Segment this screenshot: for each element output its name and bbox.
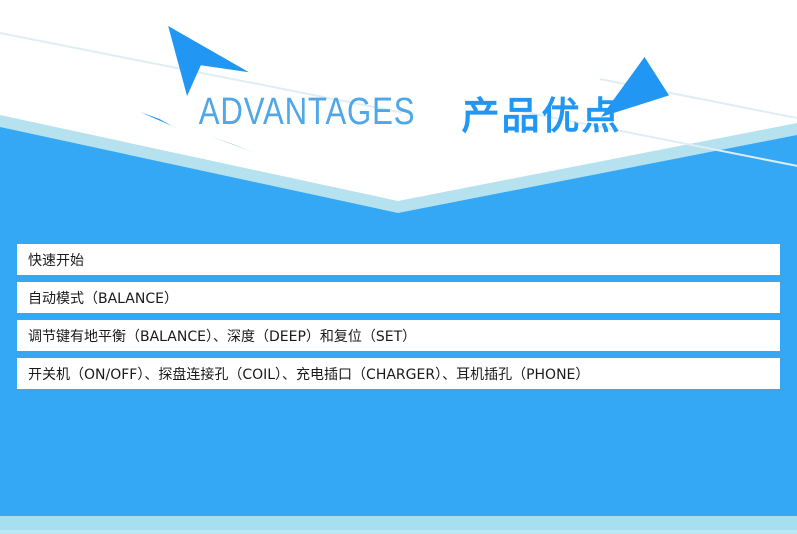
advantages-banner-page: ADVANTAGES 产品优点 快速开始 自动模式（BALANCE） 调节键有地… [0, 0, 797, 534]
bottom-light-band-edge [0, 530, 797, 534]
list-item-label: 快速开始 [28, 250, 84, 270]
heading-chinese: 产品优点 [462, 85, 622, 140]
list-item-label: 自动模式（BALANCE） [28, 288, 178, 308]
list-item-label: 开关机（ON/OFF）、探盘连接孔（COIL）、充电插口（CHARGER）、耳机… [28, 364, 589, 384]
list-item-label: 调节键有地平衡（BALANCE）、深度（DEEP）和复位（SET） [28, 326, 416, 346]
feature-list: 快速开始 自动模式（BALANCE） 调节键有地平衡（BALANCE）、深度（D… [17, 244, 780, 396]
list-item: 开关机（ON/OFF）、探盘连接孔（COIL）、充电插口（CHARGER）、耳机… [17, 358, 780, 389]
list-item: 快速开始 [17, 244, 780, 275]
list-item: 自动模式（BALANCE） [17, 282, 780, 313]
list-item: 调节键有地平衡（BALANCE）、深度（DEEP）和复位（SET） [17, 320, 780, 351]
page-title: ADVANTAGES 产品优点 [0, 85, 797, 140]
heading-english: ADVANTAGES [199, 91, 416, 134]
